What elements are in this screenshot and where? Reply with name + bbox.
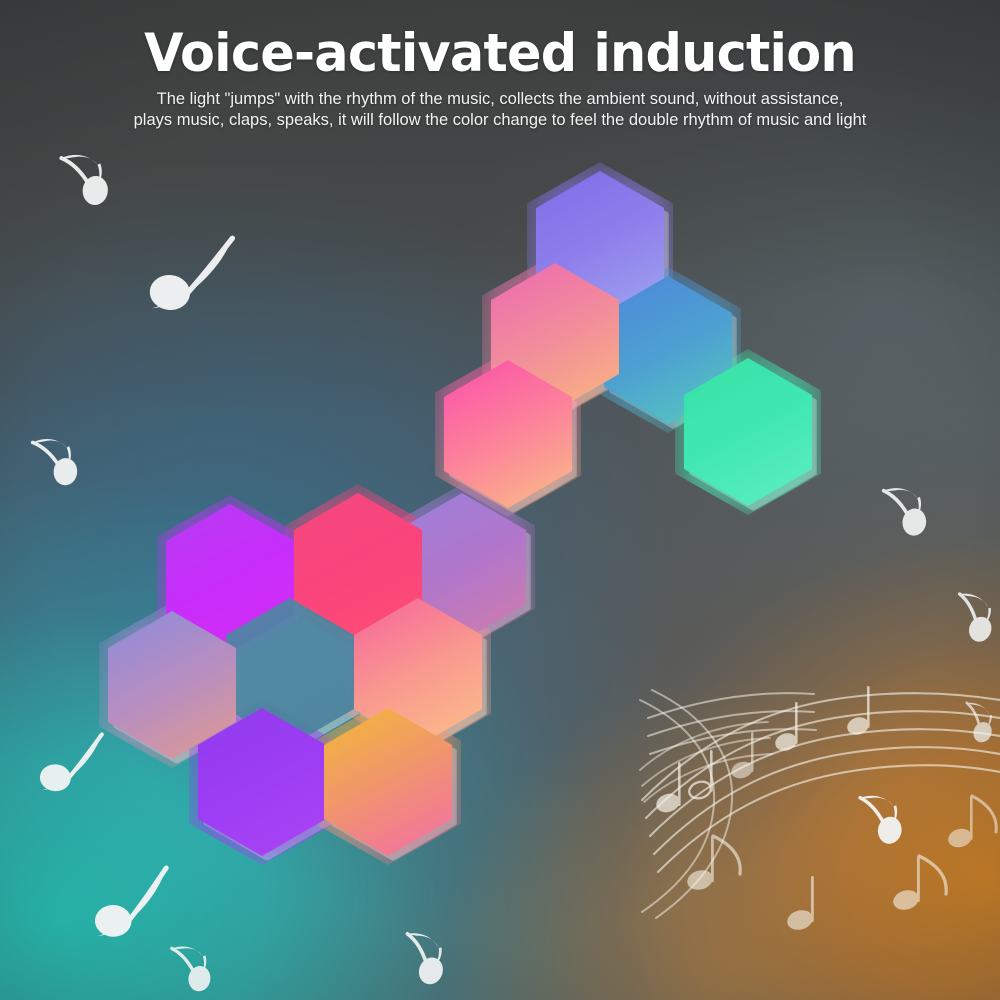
page-subtitle: The light "jumps" with the rhythm of the… (0, 81, 1000, 131)
promo-banner: Voice-activated induction The light "jum… (0, 0, 1000, 1000)
hexagon-light-cluster (0, 0, 1000, 1000)
page-title: Voice-activated induction (20, 0, 980, 81)
page-subtitle-line1: The light "jumps" with the rhythm of the… (157, 90, 844, 108)
page-subtitle-line2: plays music, claps, speaks, it will foll… (0, 110, 1000, 131)
header-block: Voice-activated induction The light "jum… (0, 0, 1000, 131)
